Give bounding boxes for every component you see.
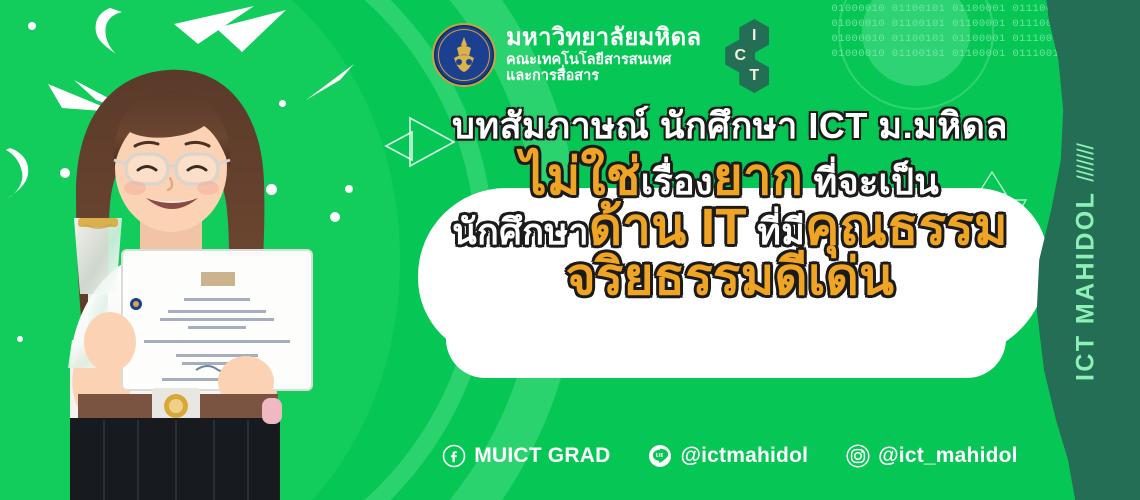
student-photo — [18, 42, 348, 500]
facebook-handle: MUICT GRAD — [474, 444, 610, 468]
instagram-icon — [846, 444, 870, 468]
headline-l3-orange-2: คุณธรรม — [805, 198, 1008, 255]
headline-line-4: จริยธรรมดีเด่น — [400, 251, 1060, 303]
facebook-icon — [442, 444, 466, 468]
brand-header: มหาวิทยาลัยมหิดล คณะเทคโนโลยีสารสนเทศ แล… — [432, 18, 773, 92]
headline-block: บทสัมภาษณ์ นักศึกษา ICT ม.มหิดล ไม่ใช่เร… — [400, 108, 1060, 301]
student-illustration — [18, 42, 348, 500]
instagram-handle: @ict_mahidol — [878, 444, 1018, 468]
headline-line-2: ไม่ใช่เรื่องยาก ที่จะเป็น — [400, 151, 1060, 203]
social-facebook[interactable]: MUICT GRAD — [442, 444, 610, 468]
headline-l2-white-2: ที่จะเป็น — [803, 161, 939, 202]
headline-line-1: บทสัมภาษณ์ นักศึกษา ICT ม.มหิดล — [400, 108, 1060, 145]
social-line[interactable]: @ictmahidol — [648, 444, 808, 468]
university-text-block: มหาวิทยาลัยมหิดล คณะเทคโนโลยีสารสนเทศ แล… — [506, 25, 701, 84]
seal-emblem-icon — [447, 36, 481, 74]
university-name: มหาวิทยาลัยมหิดล — [506, 25, 701, 51]
headline-l2-orange-2: ยาก — [713, 148, 803, 205]
headline-l2-orange-1: ไม่ใช่ — [521, 148, 641, 205]
promo-banner: 01000010 01100101 01100001 01110010 0100… — [0, 0, 1140, 500]
line-icon — [648, 444, 672, 468]
line-handle: @ictmahidol — [680, 444, 808, 468]
social-links-row: MUICT GRAD @ictmahidol — [420, 444, 1040, 468]
faculty-name-line-2: และการสื่อสาร — [506, 69, 701, 85]
side-panel-label: ICT MAHIDOL /////// — [1072, 98, 1101, 428]
confetti-dot — [28, 22, 36, 30]
headline-l3-white-2: ที่มี — [747, 211, 805, 252]
social-instagram[interactable]: @ict_mahidol — [846, 444, 1018, 468]
mahidol-university-seal-icon — [432, 23, 496, 87]
headline-l2-white-1: เรื่อง — [641, 161, 713, 202]
headline-l3-orange-1: ด้าน IT — [589, 198, 747, 255]
headline-l4-orange: จริยธรรมดีเด่น — [566, 248, 895, 305]
side-panel-label-text: ICT MAHIDOL — [1072, 191, 1100, 381]
ict-logo: I C T — [725, 19, 773, 91]
faculty-name-line-1: คณะเทคโนโลยีสารสนเทศ — [506, 53, 701, 69]
headline-white-blob-2 — [446, 300, 1006, 378]
side-panel-slashes: /////// — [1073, 144, 1099, 182]
headline-l3-white-1: นักศึกษา — [452, 211, 589, 252]
headline-line-3: นักศึกษาด้าน IT ที่มีคุณธรรม — [400, 201, 1060, 253]
